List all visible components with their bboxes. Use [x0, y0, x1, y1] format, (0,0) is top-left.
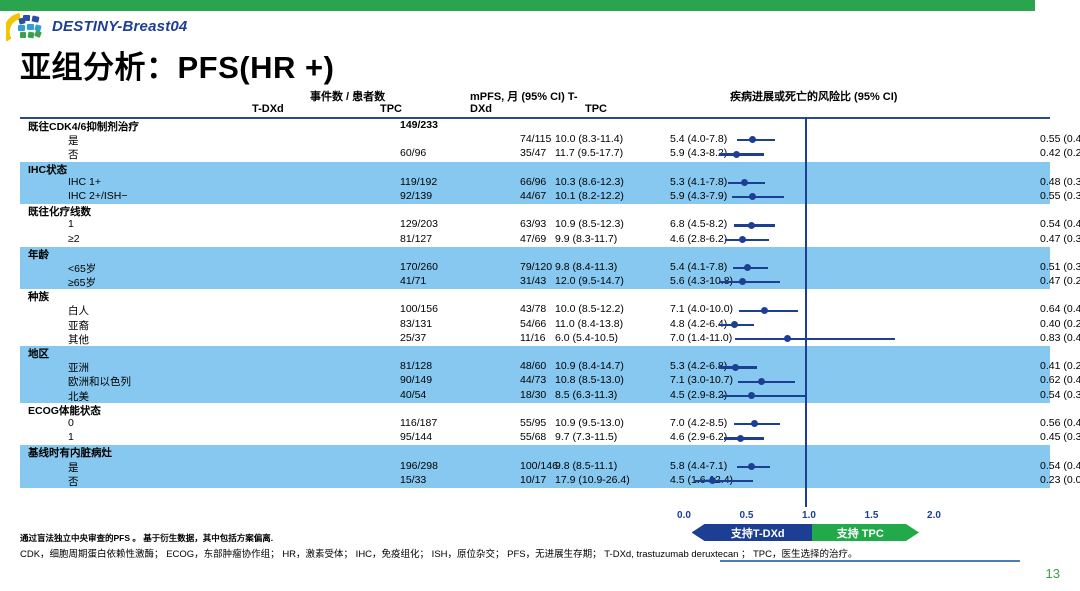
confidence-interval-bar: [719, 153, 764, 155]
cell-mpfs-tdxd: 9.7 (7.3-11.5): [555, 431, 617, 443]
page-title: 亚组分析：PFS(HR +): [20, 42, 334, 87]
confidence-interval-bar: [720, 281, 780, 283]
row-label: 0: [68, 417, 74, 429]
cell-mpfs-tdxd: 10.1 (8.2-12.2): [555, 190, 624, 202]
header-tdxd: T-DXd: [252, 103, 284, 115]
forest-marker: [664, 318, 934, 332]
forest-marker: [664, 360, 934, 374]
cell-mpfs-tdxd: 9.8 (8.5-11.1): [555, 460, 617, 472]
forest-marker: [664, 261, 934, 275]
footnote-primary: 通过盲法独立中央审查的PFS 。 基于衍生数据，其中包括方案偏离.: [20, 532, 273, 544]
header-mpfs: mPFS, 月 (95% CI) T-: [470, 88, 578, 104]
axis-tick-label: 1.5: [865, 510, 879, 521]
forest-plot: [664, 88, 934, 508]
point-estimate-dot: [733, 151, 740, 158]
row-label: 亚洲: [68, 360, 89, 375]
forest-marker: [664, 233, 934, 247]
forest-marker: [664, 332, 934, 346]
cell-mpfs-tdxd: 10.8 (8.5-13.0): [555, 374, 624, 386]
row-label: <65岁: [68, 261, 96, 276]
forest-marker: [664, 460, 934, 474]
legend-favors-tpc: 支持 TPC: [812, 524, 920, 541]
row-label: 1: [68, 218, 74, 230]
cell-mpfs-tdxd: 11.0 (8.4-13.8): [555, 318, 623, 330]
cell-mpfs-tdxd: 9.9 (8.3-11.7): [555, 233, 617, 245]
point-estimate-dot: [739, 236, 746, 243]
point-estimate-dot: [751, 420, 758, 427]
page-number: 13: [1046, 566, 1060, 581]
row-label: 地区: [28, 346, 49, 361]
point-estimate-dot: [739, 278, 746, 285]
row-label: 既往化疗线数: [28, 204, 91, 219]
forest-marker: [664, 147, 934, 161]
row-label: 白人: [68, 303, 89, 318]
confidence-interval-bar: [724, 437, 764, 439]
row-label: 既往CDK4/6抑制剂治疗: [28, 119, 139, 134]
cell-mpfs-tdxd: 10.9 (8.4-14.7): [555, 360, 624, 372]
cell-mpfs-tdxd: 10.0 (8.5-12.2): [555, 303, 624, 315]
row-label: 亚裔: [68, 318, 89, 333]
point-estimate-dot: [761, 307, 768, 314]
cell-mpfs-tdxd: 17.9 (10.9-26.4): [555, 474, 630, 486]
axis-tick-label: 0.5: [740, 510, 754, 521]
top-green-banner: [0, 0, 1035, 11]
row-label: IHC 2+/ISH−: [68, 190, 128, 202]
point-estimate-dot: [731, 321, 738, 328]
footer-divider: [720, 560, 1020, 562]
header-events-patients: 事件数 / 患者数: [310, 88, 385, 104]
cell-mpfs-tdxd: 11.7 (9.5-17.7): [555, 147, 623, 159]
confidence-interval-bar: [725, 239, 769, 241]
row-label: 欧洲和以色列: [68, 374, 131, 389]
cell-mpfs-tdxd: 12.0 (9.5-14.7): [555, 275, 624, 287]
confidence-interval-bar: [732, 196, 785, 198]
row-label: 年龄: [28, 247, 49, 262]
row-label: 北美: [68, 389, 89, 404]
forest-marker: [664, 133, 934, 147]
clinical-trial-logo-icon: [6, 12, 50, 42]
forest-marker: [664, 176, 934, 190]
forest-legend: 支持T-DXd 支持 TPC: [664, 524, 964, 544]
confidence-interval-bar: [722, 395, 806, 397]
row-label: 1: [68, 431, 74, 443]
point-estimate-dot: [784, 335, 791, 342]
point-estimate-dot: [749, 136, 756, 143]
forest-marker: [664, 389, 934, 403]
header-mpfs-tdxd: DXd: [470, 103, 492, 115]
cell-mpfs-tdxd: 10.9 (9.5-13.0): [555, 417, 624, 429]
forest-marker: [664, 375, 934, 389]
point-estimate-dot: [748, 463, 755, 470]
forest-marker: [664, 218, 934, 232]
point-estimate-dot: [737, 435, 744, 442]
row-label: 其他: [68, 332, 89, 347]
confidence-interval-bar: [739, 310, 798, 312]
cell-mpfs-tdxd: 8.5 (6.3-11.3): [555, 389, 617, 401]
row-label: 是: [68, 133, 79, 148]
footnote-abbreviations: CDK，细胞周期蛋白依赖性激酶； ECOG，东部肿瘤协作组； HR，激素受体； …: [20, 546, 858, 560]
point-estimate-dot: [758, 378, 765, 385]
cell-mpfs-tdxd: 9.8 (8.4-11.3): [555, 261, 617, 273]
axis-tick-label: 1.0: [802, 510, 816, 521]
axis-tick-label: 0.0: [677, 510, 691, 521]
point-estimate-dot: [741, 179, 748, 186]
forest-marker: [664, 190, 934, 204]
point-estimate-dot: [744, 264, 751, 271]
forest-marker: [664, 304, 934, 318]
legend-favors-tdxd: 支持T-DXd: [692, 524, 815, 541]
row-label: ≥2: [68, 233, 80, 245]
trial-name: DESTINY-Breast04: [52, 18, 187, 35]
forest-marker: [664, 474, 934, 488]
row-label: 基线时有内脏病灶: [28, 445, 112, 460]
cell-mpfs-tdxd: 6.0 (5.4-10.5): [555, 332, 618, 344]
cell-mpfs-tdxd: 10.0 (8.3-11.4): [555, 133, 623, 145]
row-label: 种族: [28, 289, 49, 304]
header-mpfs-tpc: TPC: [585, 103, 607, 115]
point-estimate-dot: [732, 364, 739, 371]
forest-marker: [664, 275, 934, 289]
axis-tick-label: 2.0: [927, 510, 941, 521]
row-label: 否: [68, 474, 79, 489]
cell-mpfs-tdxd: 10.3 (8.6-12.3): [555, 176, 624, 188]
cell-mpfs-tdxd: 10.9 (8.5-12.3): [555, 218, 624, 230]
row-label: 是: [68, 460, 79, 475]
confidence-interval-bar: [695, 480, 753, 482]
confidence-interval-bar: [738, 381, 796, 383]
point-estimate-dot: [748, 222, 755, 229]
forest-marker: [664, 431, 934, 445]
confidence-interval-bar: [735, 338, 895, 340]
header-tpc: TPC: [380, 103, 402, 115]
point-estimate-dot: [709, 477, 716, 484]
forest-marker: [664, 417, 934, 431]
point-estimate-dot: [749, 193, 756, 200]
row-label: ECOG体能状态: [28, 403, 101, 418]
row-label: ≥65岁: [68, 275, 96, 290]
point-estimate-dot: [748, 392, 755, 399]
row-label: IHC 1+: [68, 176, 101, 188]
row-label: 否: [68, 147, 79, 162]
row-label: IHC状态: [28, 162, 67, 177]
